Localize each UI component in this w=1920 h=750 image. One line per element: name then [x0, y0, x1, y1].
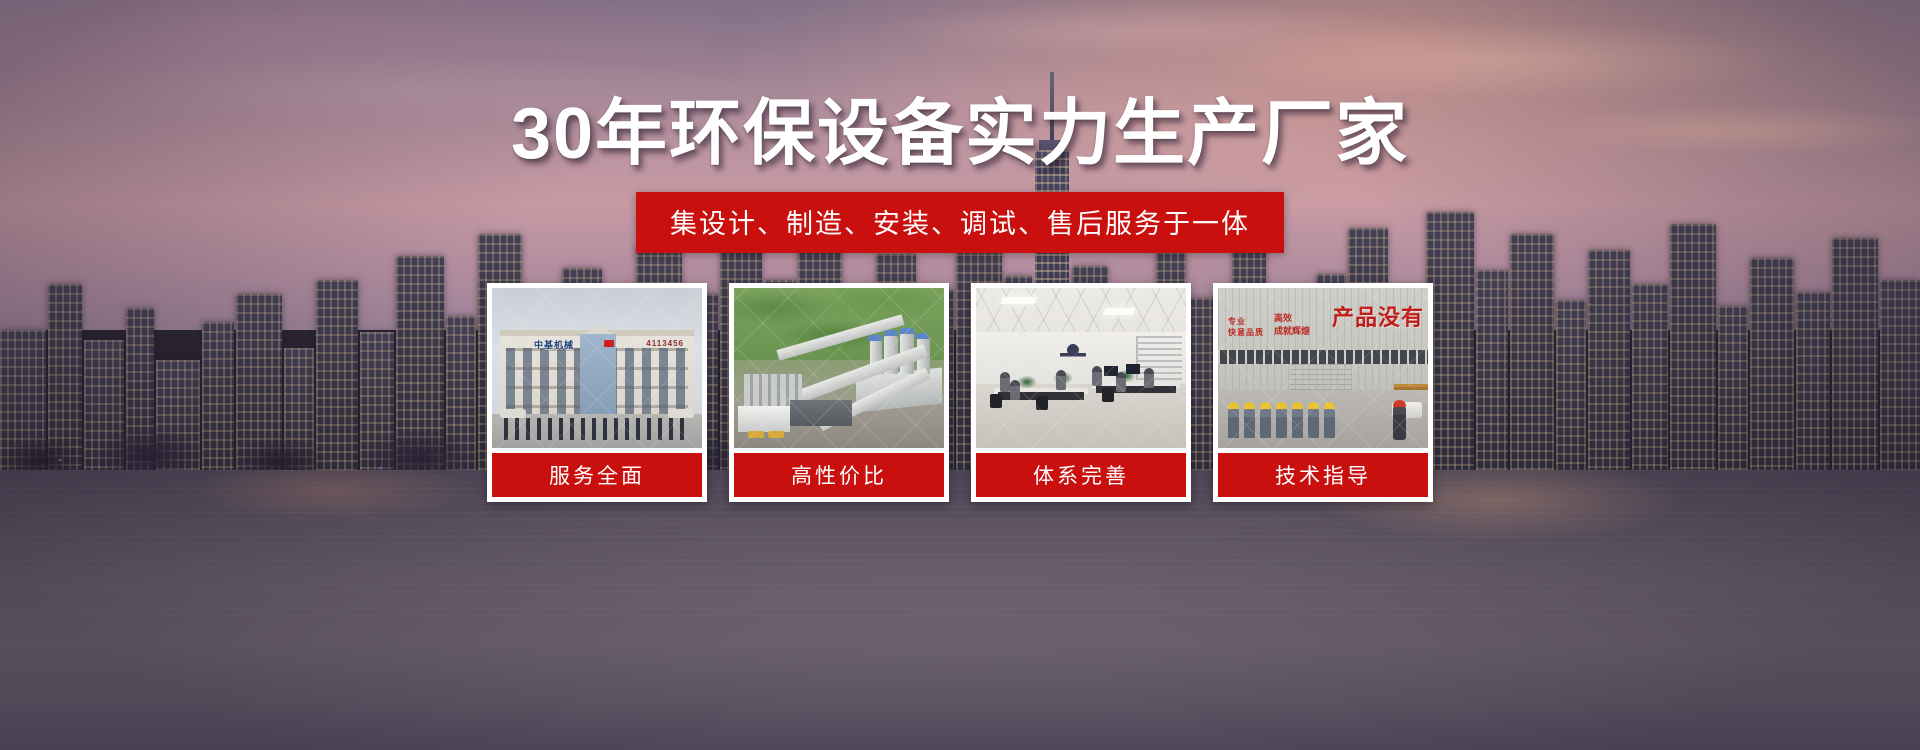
feature-card-system[interactable]: 体系完善 [971, 283, 1191, 502]
card-label-system: 体系完善 [976, 453, 1186, 497]
factory-sign-text: 产品没有 [1332, 300, 1424, 332]
building-phone-text: 4113456 [646, 339, 684, 348]
banner-content: 30年环保设备实力生产厂家 集设计、制造、安装、调试、售后服务于一体 中基机械 … [0, 0, 1920, 750]
subtitle-ribbon: 集设计、制造、安装、调试、售后服务于一体 [636, 192, 1284, 253]
card-label-service: 服务全面 [492, 453, 702, 497]
feature-card-value[interactable]: 高性价比 [729, 283, 949, 502]
feature-card-list: 中基机械 4113456 服务全面 [487, 283, 1433, 502]
factory-sign-small-mid: 高效成就辉煌 [1274, 312, 1310, 337]
headline-text: 30年环保设备实力生产厂家 [0, 98, 1920, 170]
wall-logo-icon [1060, 342, 1086, 362]
factory-sign-small-left: 专业快意品质 [1228, 316, 1264, 338]
aerial-plant-photo [734, 288, 944, 448]
building-sign-text: 中基机械 [534, 338, 574, 351]
office-room-photo [976, 288, 1186, 448]
feature-card-guidance[interactable]: 产品没有 专业快意品质 高效成就辉煌 [1213, 283, 1433, 502]
card-label-guidance: 技术指导 [1218, 453, 1428, 497]
flag-icon [604, 340, 614, 347]
feature-card-service[interactable]: 中基机械 4113456 服务全面 [487, 283, 707, 502]
office-building-photo: 中基机械 4113456 [492, 288, 702, 448]
factory-workers-photo: 产品没有 专业快意品质 高效成就辉煌 [1218, 288, 1428, 448]
hero-banner: 30年环保设备实力生产厂家 集设计、制造、安装、调试、售后服务于一体 中基机械 … [0, 0, 1920, 750]
card-label-value: 高性价比 [734, 453, 944, 497]
